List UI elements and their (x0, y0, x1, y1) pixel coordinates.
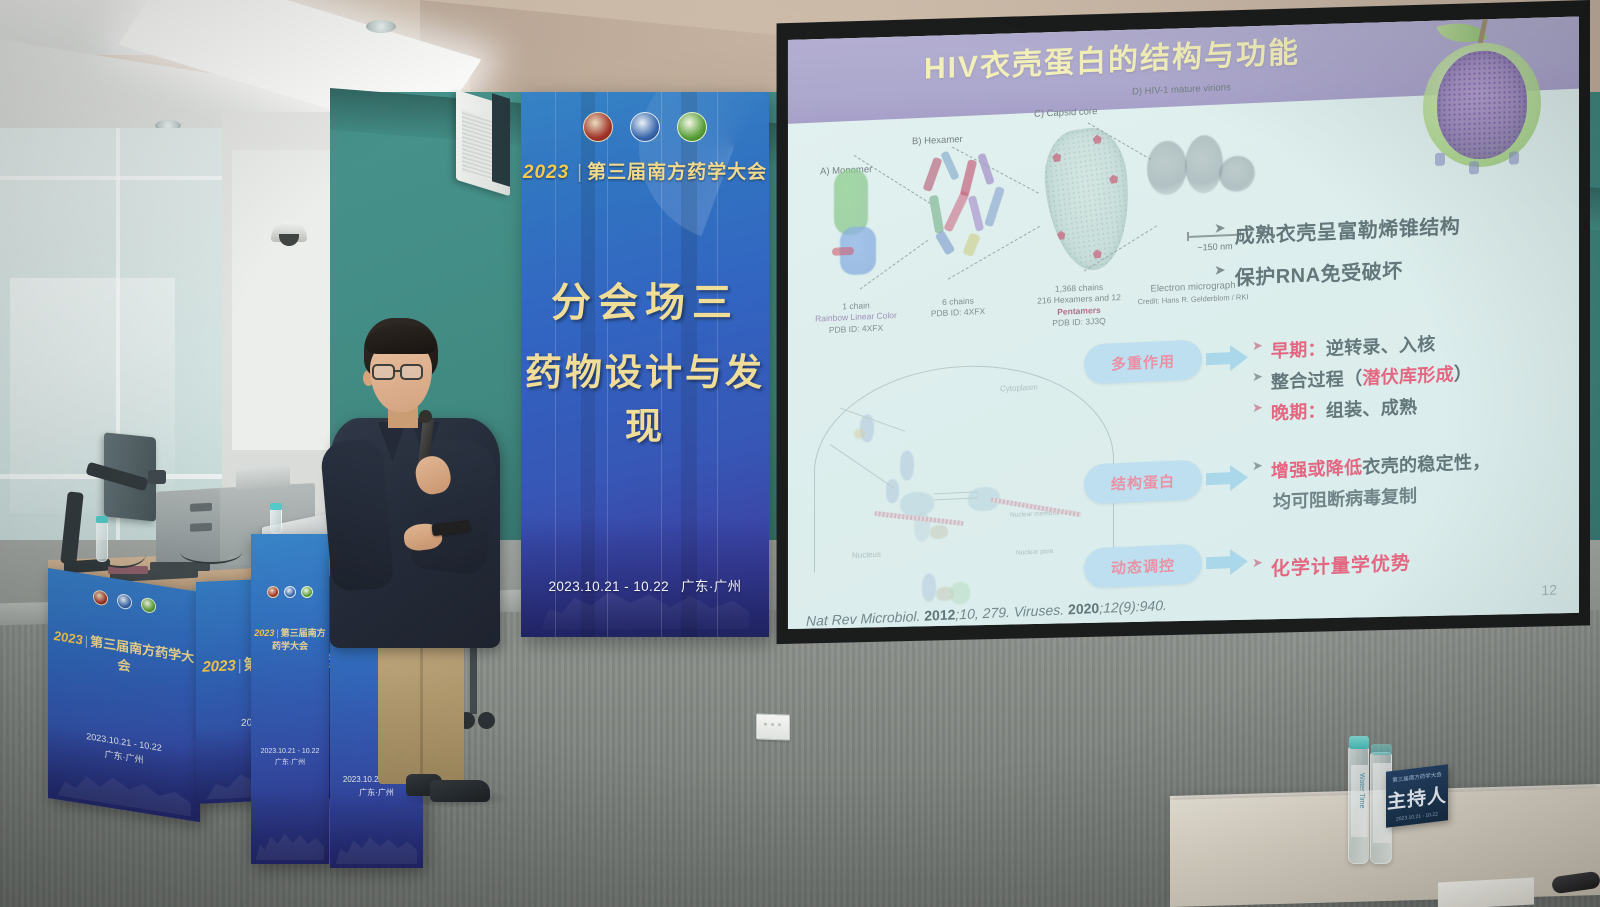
podium-panel-a: 2023|第三届南方药学大会 2023.10.21 - 10.22广东·广州 (251, 534, 329, 864)
flow-row: 动态调控 ➤ 化学计量学优势 (1084, 528, 1554, 595)
conference-banner: 2023|第三届南方药学大会 分会场三 药物设计与发现 2023.10.21 -… (521, 92, 769, 637)
slide-page-number: 12 (1541, 582, 1557, 599)
host-name-card: 第三届南方药学大会 主持人 2023.10.21 - 10.22 (1386, 764, 1448, 828)
citation-journal-2: Viruses. (1014, 602, 1064, 620)
microphone-head-icon (419, 410, 432, 423)
desk-branding-panel-left: 2023|第三届南方药学大会 2023.10.21 - 10.22广东·广州 (48, 568, 200, 822)
university-seal-blue-logo (630, 112, 660, 142)
pathway-label-cytoplasm: Cytoplasm (1000, 383, 1038, 394)
chevron-right-icon: ➤ (1252, 458, 1263, 474)
flow-row: 结构蛋白 ➤ 增强或降低衣壳的稳定性， 均可阻断病毒复制 (1084, 444, 1554, 523)
flow-item-text: 整合过程（潜伏库形成） (1271, 359, 1472, 394)
flow-pill-structural-protein: 结构蛋白 (1084, 459, 1202, 504)
flow-arrow-icon (1202, 457, 1252, 499)
banner-session-line2: 药物设计与发现 (521, 342, 769, 450)
virion-apple-illustration (1417, 14, 1547, 172)
university-seal-red-logo (583, 112, 613, 142)
figure-label-b: B) Hexamer (912, 134, 963, 147)
desk-panel-title: 2023|第三届南方药学大会 (48, 624, 200, 686)
wall-speaker-side (492, 93, 510, 187)
podium-panel-footer: 2023.10.21 - 10.22广东·广州 (251, 746, 329, 768)
wall-switch-plate[interactable] (756, 713, 790, 740)
citation-detail-1: ;10, 279. (955, 604, 1010, 622)
flow-pill-multifunction: 多重作用 (1084, 339, 1202, 384)
name-card-role: 主持人 (1386, 780, 1448, 815)
bottle-cap (1349, 736, 1369, 749)
chevron-right-icon: ➤ (1252, 555, 1263, 571)
caption-a: 1 chain Rainbow Linear Color PDB ID: 4XF… (810, 299, 902, 338)
cabinet-top-box (236, 464, 290, 491)
caption-c: 1,368 chains 216 Hexamers and 12 Pentame… (1024, 280, 1134, 331)
presenter-arm-left (320, 438, 395, 593)
banner-year: 2023 (523, 162, 569, 183)
hexamer-structure-graphic (920, 144, 1016, 268)
pathway-label-nucleus: Nucleus (852, 550, 881, 560)
lecture-hall-photo: 2023|第三届南方药学大会 分会场三 药物设计与发现 2023.10.21 -… (0, 0, 1600, 907)
flow-item-subline: 均可阻断病毒复制 (1273, 476, 1554, 515)
slide-top-bullets: ➤ 成熟衣壳呈富勒烯锥结构 ➤ 保护RNA免受破坏 (1214, 206, 1554, 305)
pharmacy-association-green-logo (677, 112, 707, 142)
capsid-core-structure-graphic (1040, 123, 1136, 276)
bullet-text: 成熟衣壳呈富勒烯锥结构 (1235, 210, 1461, 249)
presentation-slide: HIV衣壳蛋白的结构与功能 A) Monomer B) Hexamer C) C… (784, 14, 1579, 634)
bottle-cap (1371, 744, 1392, 755)
citation-year-1: 2012 (924, 606, 955, 623)
flow-item: ➤ 化学计量学优势 (1252, 542, 1554, 582)
flow-row: 多重作用 ➤ 早期：逆转录、入核 ➤ 整合过程（潜伏库形成） (1084, 324, 1554, 439)
banner-dates: 2023.10.21 - 10.22 (548, 579, 669, 594)
flow-item-text: 化学计量学优势 (1271, 548, 1411, 581)
chevron-right-icon: ➤ (1214, 220, 1226, 236)
citation-year-2: 2020 (1068, 600, 1099, 617)
podium-panel-title: 2023|第三届南方药学大会 (251, 626, 329, 652)
water-bottle-front[interactable]: Water Time (1348, 746, 1369, 864)
eyeglasses-icon (400, 364, 423, 380)
university-seal-blue-logo (284, 586, 296, 598)
figure-label-c: C) Capsid core (1034, 106, 1097, 120)
bullet-item: ➤ 成熟衣壳呈富勒烯锥结构 (1214, 206, 1554, 250)
flow-arrow-icon (1202, 337, 1252, 379)
bottle-cap (270, 503, 282, 510)
banner-session-line1: 分会场三 (521, 270, 769, 328)
flow-pill-dynamic-regulation: 动态调控 (1084, 543, 1202, 588)
hiv-replication-pathway-diagram: Cytoplasm Nucleus Nuclear membrane Nucle… (804, 355, 1114, 619)
flow-item-text: 早期：逆转录、入核 (1271, 330, 1436, 363)
university-seal-red-logo (93, 589, 108, 606)
university-seal-blue-logo (117, 593, 132, 610)
projection-screen[interactable]: HIV衣壳蛋白的结构与功能 A) Monomer B) Hexamer C) C… (784, 14, 1579, 634)
monitor-mount (148, 470, 166, 484)
flow-arrow-icon (1202, 541, 1252, 583)
pharmacy-association-green-logo (141, 597, 156, 614)
banner-conference-name: 第三届南方药学大会 (587, 162, 767, 183)
citation-detail-2: ;12(9):940. (1099, 597, 1167, 616)
banner-location: 广东·广州 (681, 579, 742, 594)
water-bottle[interactable] (270, 508, 282, 534)
banner-conference-title: 2023|第三届南方药学大会 (521, 157, 769, 184)
chevron-right-icon: ➤ (1252, 369, 1263, 385)
pharmacy-association-green-logo (301, 586, 313, 598)
bottle-brand-text: Water Time (1358, 773, 1365, 809)
bottle-cap (96, 516, 108, 523)
banner-session-block: 分会场三 药物设计与发现 (521, 270, 769, 450)
water-bottle[interactable] (96, 522, 108, 562)
table-paper (1438, 877, 1534, 907)
chevron-right-icon: ➤ (1252, 338, 1263, 354)
downlight-icon (366, 20, 396, 33)
caption-b: 6 chains PDB ID: 4XFX (912, 294, 1004, 321)
monomer-structure-graphic (828, 168, 880, 282)
flow-item-text: 增强或降低衣壳的稳定性， (1271, 448, 1491, 484)
presenter-person (320, 318, 510, 828)
capsid-figure: A) Monomer B) Hexamer C) Capsid core D) … (802, 94, 1222, 363)
university-seal-red-logo (267, 586, 279, 598)
flow-item-text: 晚期：组装、成熟 (1271, 393, 1417, 426)
eyeglasses-icon (372, 364, 395, 380)
banner-footer: 2023.10.21 - 10.22广东·广州 (521, 575, 769, 595)
presenter-shoe (430, 780, 490, 802)
bullet-text: 保护RNA免受破坏 (1235, 254, 1403, 290)
chevron-right-icon: ➤ (1214, 262, 1226, 278)
bullet-item: ➤ 保护RNA免受破坏 (1214, 248, 1554, 292)
banner-logo-row (521, 112, 769, 142)
cable (180, 540, 242, 564)
banner-separator: | (577, 162, 583, 183)
slide-flow-section: 多重作用 ➤ 早期：逆转录、入核 ➤ 整合过程（潜伏库形成） (1084, 324, 1554, 621)
chevron-right-icon: ➤ (1252, 400, 1263, 416)
